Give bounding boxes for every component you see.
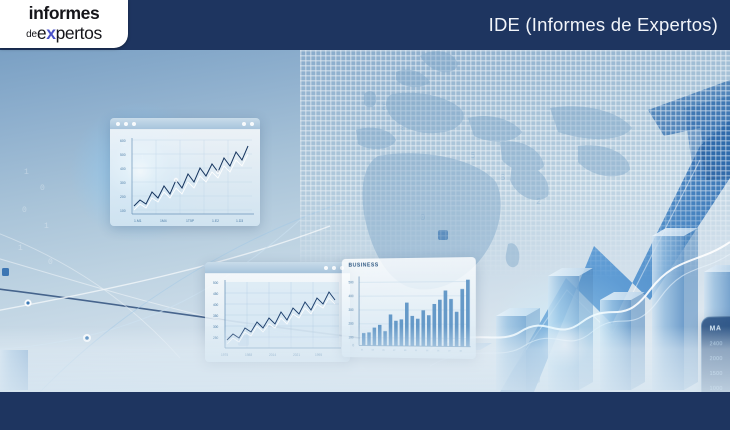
svg-text:0: 0 (48, 258, 53, 267)
svg-text:1: 1 (44, 222, 49, 231)
line-chart-graphic: 600500 400300 200100 1.M11M4 1T5P1.E2 1.… (110, 130, 260, 226)
svg-text:400: 400 (213, 303, 219, 307)
svg-text:200: 200 (348, 322, 353, 326)
footer-bar (0, 392, 730, 430)
svg-text:0: 0 (40, 184, 45, 193)
market-row: 2000 (710, 356, 723, 362)
logo-de: de (26, 29, 37, 40)
svg-text:300: 300 (120, 181, 126, 185)
logo-text: informes deexpertos (0, 5, 128, 42)
svg-text:15: 15 (437, 350, 440, 352)
svg-text:300: 300 (348, 308, 353, 312)
svg-text:100: 100 (348, 335, 353, 339)
svg-text:500: 500 (120, 153, 126, 157)
svg-text:09: 09 (404, 350, 407, 352)
window-chrome (110, 118, 260, 130)
svg-text:05: 05 (382, 350, 385, 352)
banner-image: 10 01 10 01 83 58 02 (0, 0, 730, 430)
svg-text:200: 200 (120, 195, 126, 199)
svg-text:600: 600 (120, 139, 126, 143)
window-dot (242, 122, 246, 126)
logo[interactable]: informes deexpertos (0, 0, 128, 48)
panel-business-bar-chart: BUSINESS 500400 300200 1000 (342, 257, 476, 359)
window-dot (116, 122, 120, 126)
svg-text:500: 500 (213, 281, 219, 285)
svg-text:450: 450 (213, 292, 219, 296)
svg-text:1975: 1975 (221, 353, 228, 357)
svg-text:13: 13 (426, 350, 429, 352)
svg-text:100: 100 (120, 209, 126, 213)
window-dot (332, 266, 336, 270)
logo-pertos: pertos (56, 23, 102, 43)
svg-text:300: 300 (213, 325, 219, 329)
market-panel-rows: 2400 2000 1500 1000 500 0 (710, 341, 723, 392)
svg-text:1.D3: 1.D3 (236, 219, 243, 223)
window-dot (324, 266, 328, 270)
panel-line-chart-top-left: 600500 400300 200100 1.M11M4 1T5P1.E2 1.… (110, 118, 260, 226)
svg-text:400: 400 (120, 167, 126, 171)
panel-body: BUSINESS 500400 300200 1000 (342, 257, 476, 359)
window-dot (132, 122, 136, 126)
svg-text:2014: 2014 (269, 353, 276, 357)
svg-text:1988: 1988 (245, 353, 252, 357)
svg-text:11: 11 (415, 350, 418, 352)
svg-text:0: 0 (352, 343, 354, 347)
page-title: IDE (Informes de Expertos) (489, 0, 718, 50)
svg-text:07: 07 (393, 350, 396, 352)
market-row: 2400 (710, 341, 723, 347)
market-row: 1000 (710, 386, 723, 392)
market-row: 1500 (710, 371, 723, 377)
market-panel-title: MA (710, 325, 722, 332)
svg-text:2021: 2021 (293, 353, 300, 357)
line-chart-graphic: 500450 400350 300250 19751988 20142021 1… (205, 274, 350, 362)
bar-chart-graphic: 500400 300200 1000 (342, 257, 476, 359)
logo-e: e (37, 23, 46, 43)
logo-x-accent: x (46, 23, 55, 43)
svg-text:1T5P: 1T5P (186, 219, 195, 223)
panel-market-data-right: MA 2400 2000 1500 1000 500 0 (701, 315, 730, 392)
svg-text:1: 1 (18, 244, 23, 253)
svg-text:500: 500 (348, 280, 353, 284)
svg-text:1995: 1995 (315, 353, 322, 357)
panel-line-chart-center: 500450 400350 300250 19751988 20142021 1… (205, 262, 350, 362)
svg-text:19: 19 (459, 351, 462, 353)
window-dot (124, 122, 128, 126)
logo-line-informes: informes (0, 5, 128, 23)
svg-text:1M4: 1M4 (160, 219, 167, 223)
window-chrome (205, 262, 350, 274)
panel-body: 600500 400300 200100 1.M11M4 1T5P1.E2 1.… (110, 130, 260, 226)
svg-text:1.E2: 1.E2 (212, 219, 219, 223)
svg-text:1: 1 (24, 168, 29, 177)
svg-text:350: 350 (213, 314, 219, 318)
svg-text:400: 400 (348, 294, 353, 298)
svg-text:1.M1: 1.M1 (134, 219, 142, 223)
svg-text:01: 01 (361, 349, 364, 351)
logo-line-de-expertos: deexpertos (0, 25, 128, 43)
window-dot (250, 122, 254, 126)
svg-text:17: 17 (448, 350, 451, 352)
hero-illustration: 10 01 10 01 83 58 02 (0, 50, 730, 392)
svg-text:0: 0 (22, 206, 27, 215)
business-chart-title: BUSINESS (348, 262, 378, 268)
svg-text:250: 250 (213, 336, 219, 340)
svg-text:03: 03 (372, 350, 375, 352)
panel-body: 500450 400350 300250 19751988 20142021 1… (205, 274, 350, 362)
